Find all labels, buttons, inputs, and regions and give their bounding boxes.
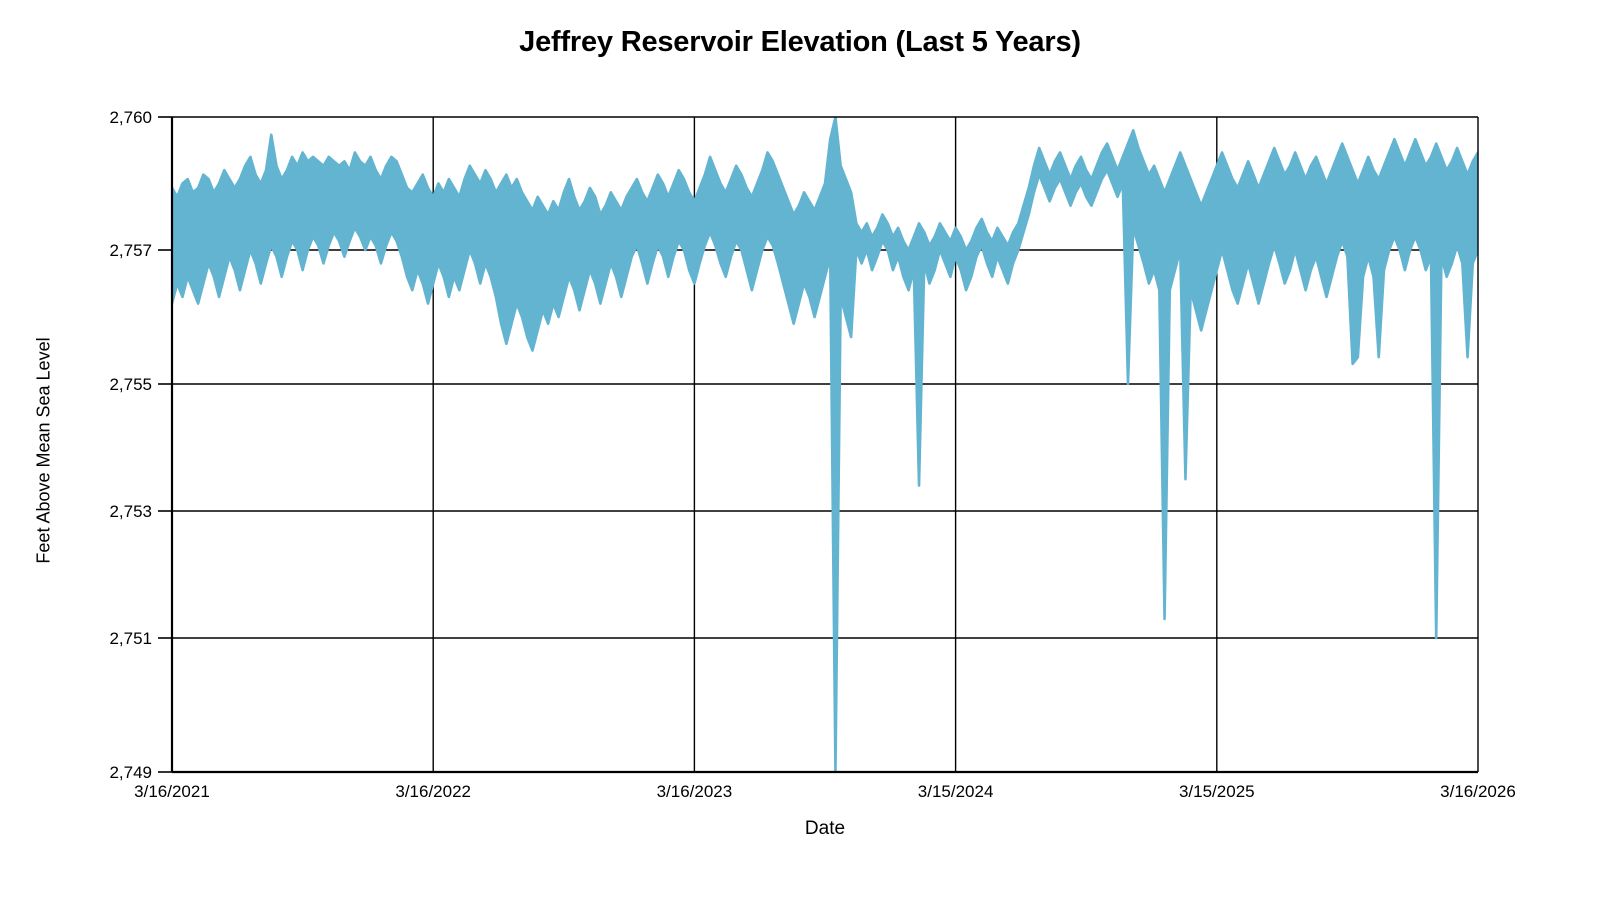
x-axis-ticks: 3/16/20213/16/20223/16/20233/15/20243/15… [134,782,1516,801]
x-tick-label: 3/16/2023 [657,782,733,801]
series-group [172,117,1478,772]
y-tick-label: 2,755 [109,375,152,394]
elevation-band-area [172,117,1478,772]
y-tick-label: 2,749 [109,763,152,782]
x-tick-label: 3/16/2026 [1440,782,1516,801]
y-tick-label: 2,757 [109,241,152,260]
y-axis-ticks: 2,7602,7572,7552,7532,7512,749 [109,108,172,782]
y-tick-label: 2,751 [109,629,152,648]
x-tick-label: 3/15/2024 [918,782,994,801]
plot-area: 2,7602,7572,7552,7532,7512,749 3/16/2021… [0,0,1600,900]
x-tick-label: 3/16/2022 [395,782,471,801]
x-tick-label: 3/16/2021 [134,782,210,801]
x-tick-label: 3/15/2025 [1179,782,1255,801]
chart-container: Jeffrey Reservoir Elevation (Last 5 Year… [0,0,1600,900]
y-tick-label: 2,760 [109,108,152,127]
y-tick-label: 2,753 [109,502,152,521]
